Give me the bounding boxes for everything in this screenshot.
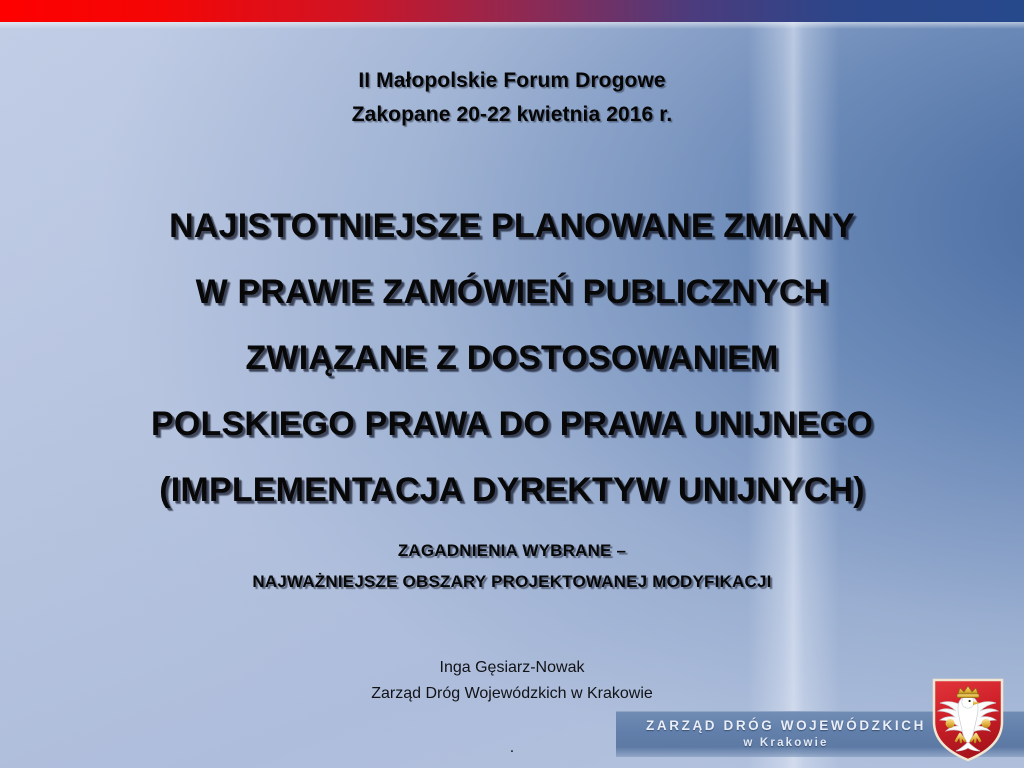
presentation-slide: II Małopolskie Forum Drogowe Zakopane 20…	[0, 0, 1024, 768]
subtitle-line-1: ZAGADNIENIA WYBRANE –	[0, 535, 1024, 566]
title-line-1: NAJISTOTNIEJSZE PLANOWANE ZMIANY	[0, 193, 1024, 259]
title-line-3: ZWIĄZANE Z DOSTOSOWANIEM	[0, 325, 1024, 391]
header-line-event: II Małopolskie Forum Drogowe	[0, 64, 1024, 98]
title-line-4: POLSKIEGO PRAWA DO PRAWA UNIJNEGO	[0, 391, 1024, 457]
author-organization: Zarząd Dróg Wojewódzkich w Krakowie	[0, 681, 1024, 707]
subtitle-line-2: NAJWAŻNIEJSZE OBSZARY PROJEKTOWANEJ MODY…	[0, 566, 1024, 597]
author-name: Inga Gęsiarz-Nowak	[0, 655, 1024, 681]
author-block: Inga Gęsiarz-Nowak Zarząd Dróg Wojewódzk…	[0, 655, 1024, 707]
title-line-5: (IMPLEMENTACJA DYREKTYW UNIJNYCH)	[0, 457, 1024, 523]
polish-coat-of-arms-icon	[926, 672, 1010, 764]
top-decorative-bar	[0, 0, 1024, 22]
top-bar-underglow	[0, 22, 1024, 29]
slide-subtitle: ZAGADNIENIA WYBRANE – NAJWAŻNIEJSZE OBSZ…	[0, 535, 1024, 597]
header-line-date-place: Zakopane 20-22 kwietnia 2016 r.	[0, 98, 1024, 132]
slide-header: II Małopolskie Forum Drogowe Zakopane 20…	[0, 64, 1024, 132]
title-line-2: W PRAWIE ZAMÓWIEŃ PUBLICZNYCH	[0, 259, 1024, 325]
slide-title: NAJISTOTNIEJSZE PLANOWANE ZMIANY W PRAWI…	[0, 193, 1024, 523]
